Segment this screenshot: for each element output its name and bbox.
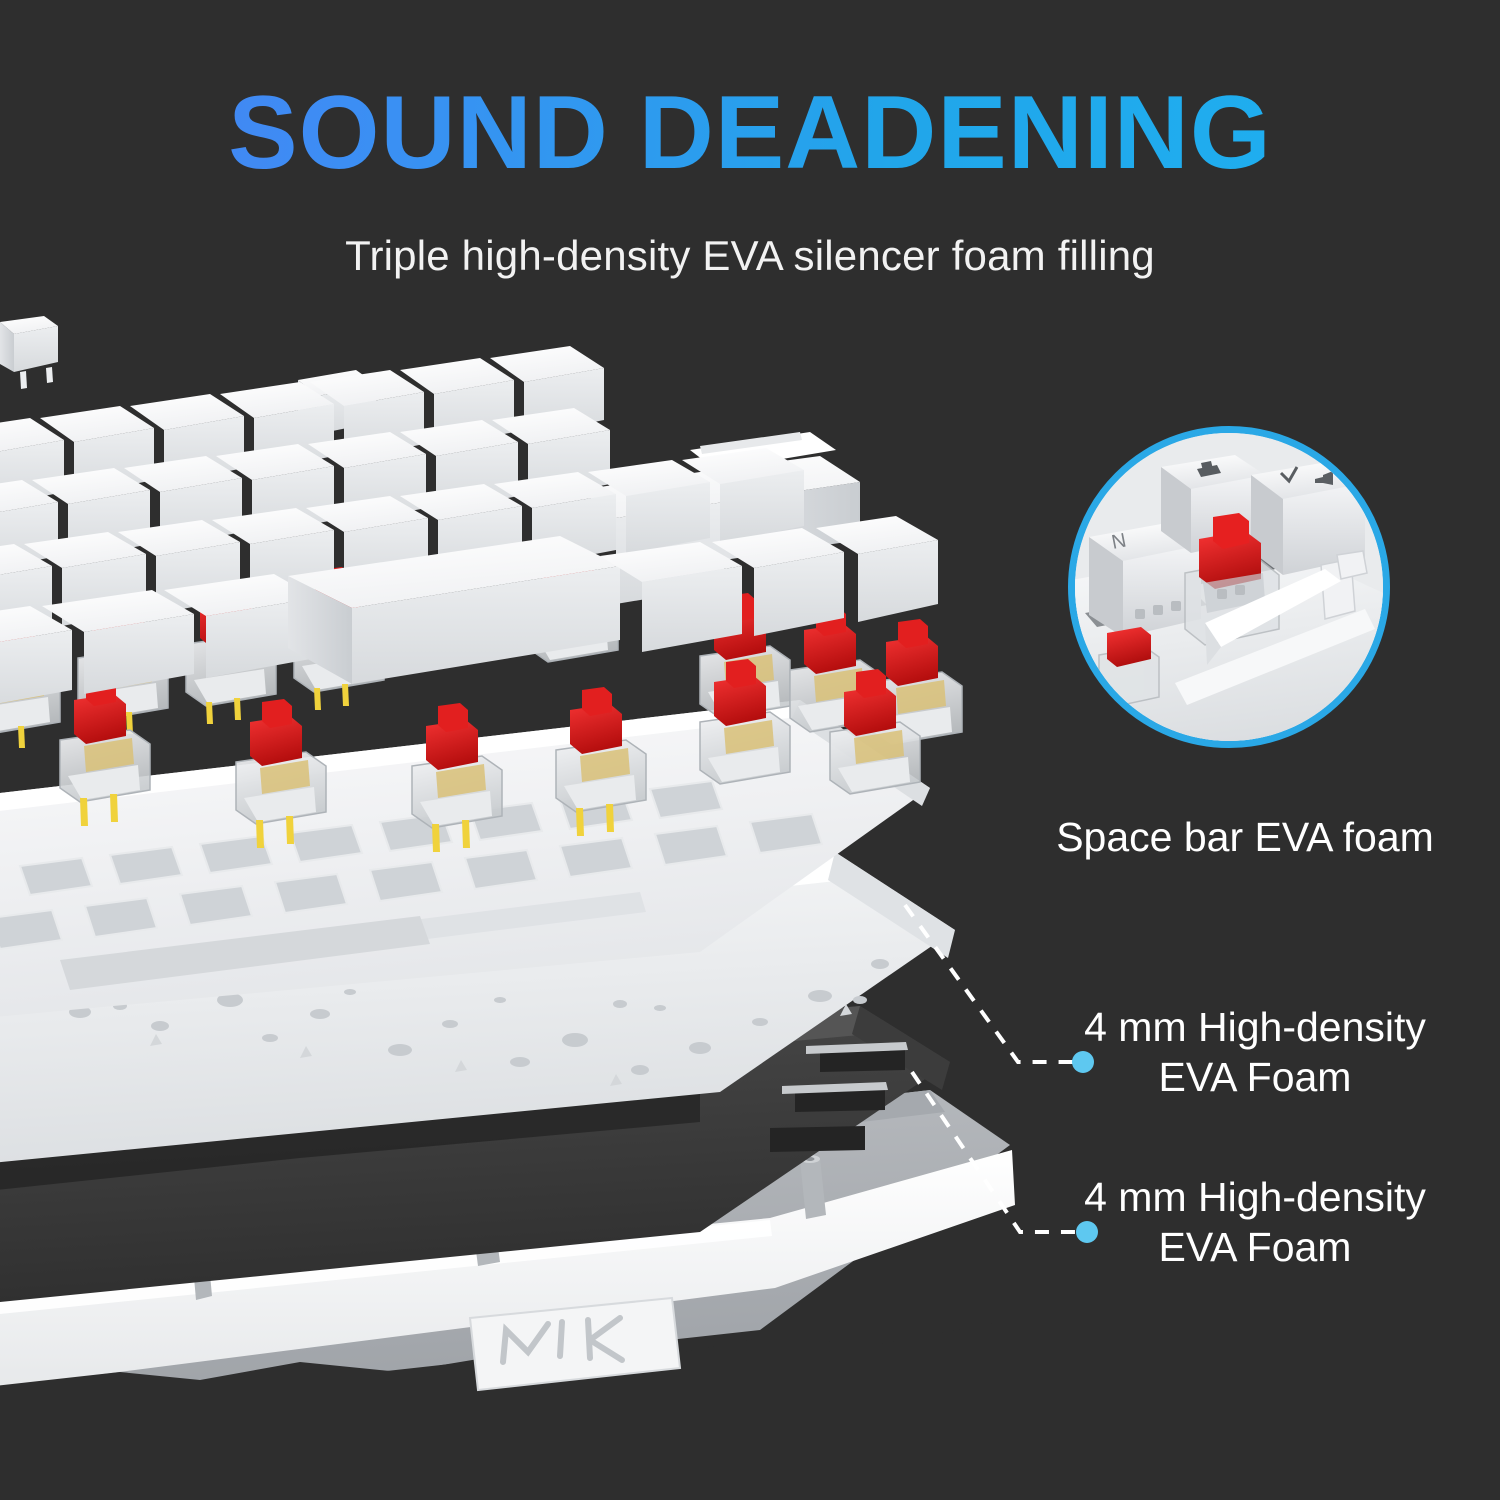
page-subtitle: Triple high-density EVA silencer foam fi… [0, 232, 1500, 280]
detached-keycap [0, 316, 58, 389]
callout-label-space-bar-eva-foam: Space bar EVA foam [1030, 812, 1460, 862]
infographic-canvas: N [0, 0, 1500, 1500]
product-exploded-view-illustration [0, 0, 1500, 1500]
layer-keycaps [0, 316, 938, 710]
inset-closeup-illustration: N [1075, 433, 1383, 741]
page-title: SOUND DEADENING [0, 78, 1500, 188]
space-bar-closeup-inset: N [1068, 426, 1390, 748]
spacebar-keycap [288, 536, 620, 684]
callout-label-foam-upper: 4 mm High-density EVA Foam [1040, 1002, 1470, 1102]
callout-label-foam-lower: 4 mm High-density EVA Foam [1040, 1172, 1470, 1272]
keycap-field [0, 346, 938, 710]
